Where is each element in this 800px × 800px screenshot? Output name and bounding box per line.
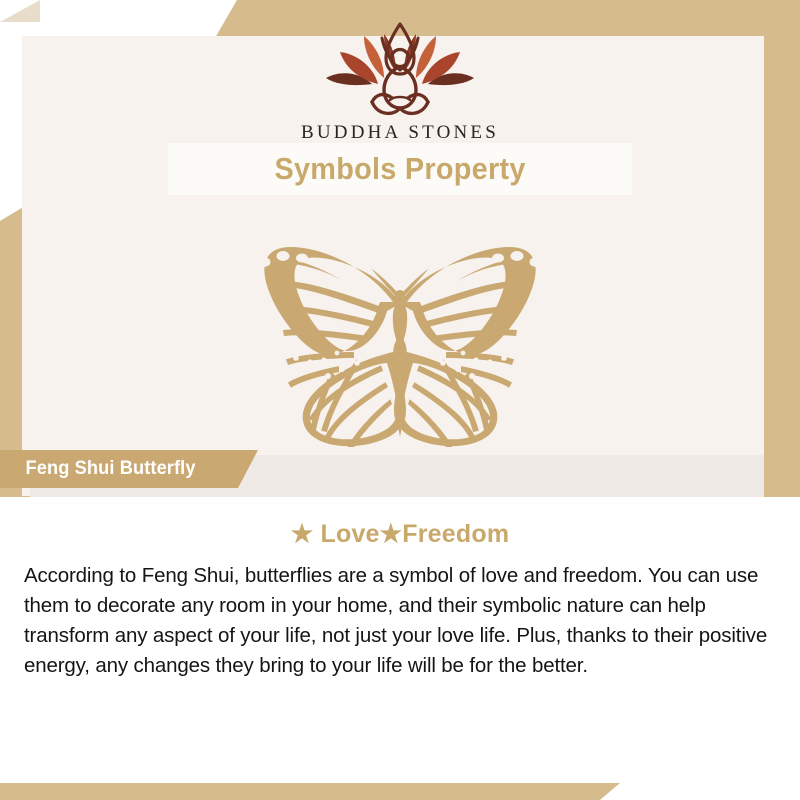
hero-illustration [0, 232, 800, 452]
brand-logo: BUDDHA STONES [0, 22, 800, 144]
description-section: ★ Love★Freedom According to Feng Shui, b… [0, 497, 800, 783]
gold-frame-bottom [0, 783, 620, 800]
ribbon-label: Feng Shui Butterfly [26, 458, 196, 480]
brand-wordmark: BUDDHA STONES [0, 122, 800, 144]
section-ribbon: Feng Shui Butterfly [0, 450, 258, 488]
title-banner: Symbols Property [168, 143, 632, 195]
butterfly-icon [220, 232, 580, 447]
poster-canvas: BUDDHA STONES Symbols Property [0, 0, 800, 800]
page-title: Symbols Property [274, 151, 525, 187]
corner-accent-bottom-right [0, 0, 40, 22]
subheading: ★ Love★Freedom [0, 519, 800, 549]
description-paragraph: According to Feng Shui, butterflies are … [0, 561, 800, 681]
lotus-meditation-figure-icon [314, 22, 486, 118]
